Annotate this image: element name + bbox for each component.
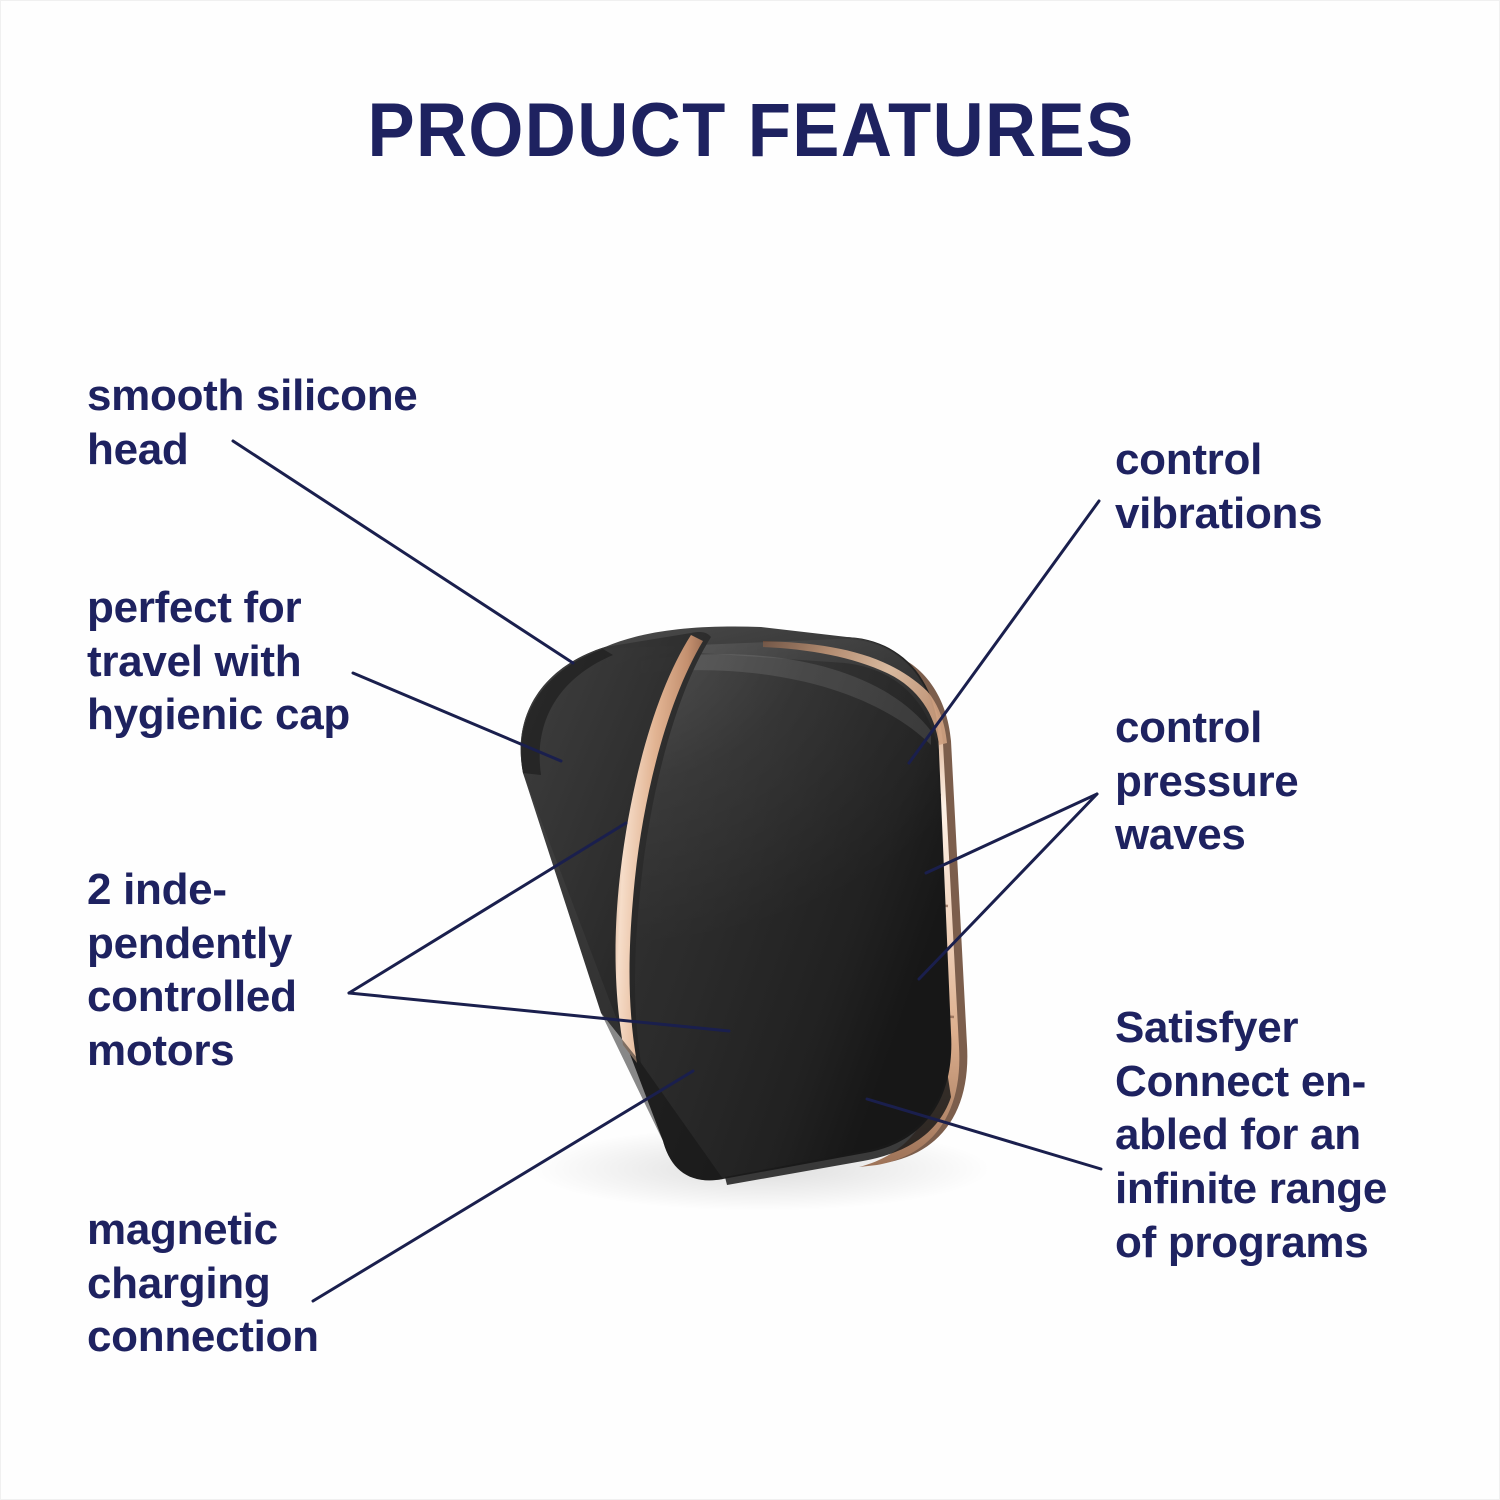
label-control-pressure-waves: control pressure waves <box>1115 701 1475 862</box>
label-perfect-for-travel: perfect for travel with hygienic cap <box>87 581 517 742</box>
label-smooth-silicone-head: smooth silicone head <box>87 369 517 476</box>
label-two-motors: 2 inde- pendently controlled motors <box>87 863 517 1078</box>
label-control-vibrations: control vibrations <box>1115 433 1475 540</box>
label-satisfyer-connect: Satisfyer Connect en- abled for an infin… <box>1115 1001 1495 1269</box>
product-features-infographic: PRODUCT FEATURES <box>0 0 1500 1500</box>
label-magnetic-charging: magnetic charging connection <box>87 1203 517 1364</box>
